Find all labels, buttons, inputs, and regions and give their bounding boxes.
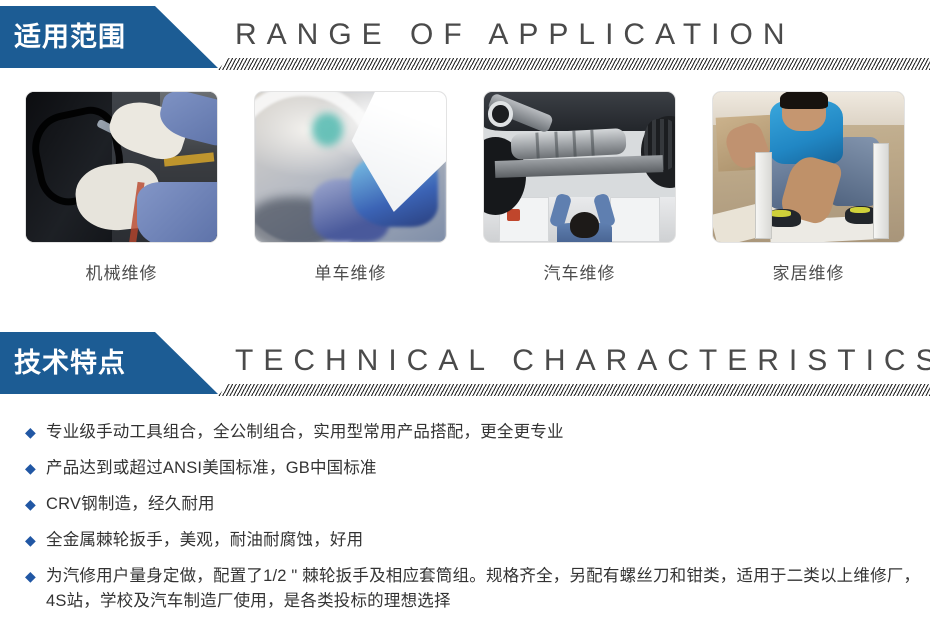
thumbnail-frame-car [483, 91, 676, 243]
diamond-bullet-icon: ◆ [22, 492, 46, 517]
feature-text: 专业级手动工具组合，全公制组合，实用型常用产品搭配，更全更专业 [46, 420, 922, 445]
thumbnail-caption-bicycle: 单车维修 [254, 259, 447, 284]
hatch-divider-application [218, 58, 930, 70]
application-thumbnail-row: 机械维修 单车维修 [25, 91, 905, 284]
feature-text: 产品达到或超过ANSI美国标准，GB中国标准 [46, 456, 922, 481]
banner-application: 适用范围 [0, 6, 218, 68]
diamond-bullet-icon: ◆ [22, 420, 46, 445]
thumbnail-caption-mechanical: 机械维修 [25, 259, 218, 284]
hatch-divider-technical [218, 384, 930, 396]
thumbnail-frame-home [712, 91, 905, 243]
thumbnail-card-mechanical[interactable]: 机械维修 [25, 91, 218, 284]
list-item: ◆ 产品达到或超过ANSI美国标准，GB中国标准 [22, 456, 922, 481]
banner-technical: 技术特点 [0, 332, 218, 394]
mechanical-repair-photo [26, 92, 217, 242]
thumbnail-card-bicycle[interactable]: 单车维修 [254, 91, 447, 284]
feature-text: 全金属棘轮扳手，美观，耐油耐腐蚀，好用 [46, 528, 922, 553]
thumbnail-frame-bicycle [254, 91, 447, 243]
banner-label-application: 适用范围 [0, 24, 126, 51]
feature-text: CRV钢制造，经久耐用 [46, 492, 922, 517]
english-title-technical: TECHNICAL CHARACTERISTICS [235, 338, 930, 384]
list-item: ◆ 为汽修用户量身定做，配置了1/2 " 棘轮扳手及相应套筒组。规格齐全，另配有… [22, 564, 922, 614]
car-repair-photo [484, 92, 675, 242]
thumbnail-caption-home: 家居维修 [712, 259, 905, 284]
list-item: ◆ 专业级手动工具组合，全公制组合，实用型常用产品搭配，更全更专业 [22, 420, 922, 445]
thumbnail-caption-car: 汽车维修 [483, 259, 676, 284]
home-repair-photo [713, 92, 904, 242]
list-item: ◆ 全金属棘轮扳手，美观，耐油耐腐蚀，好用 [22, 528, 922, 553]
banner-label-technical: 技术特点 [0, 350, 126, 377]
feature-text: 为汽修用户量身定做，配置了1/2 " 棘轮扳手及相应套筒组。规格齐全，另配有螺丝… [46, 564, 922, 614]
thumbnail-frame-mechanical [25, 91, 218, 243]
english-title-application: RANGE OF APPLICATION [235, 12, 795, 58]
thumbnail-card-car[interactable]: 汽车维修 [483, 91, 676, 284]
section-header-application: 适用范围 RANGE OF APPLICATION [0, 0, 930, 78]
thumbnail-card-home[interactable]: 家居维修 [712, 91, 905, 284]
diamond-bullet-icon: ◆ [22, 564, 46, 589]
section-header-technical: 技术特点 TECHNICAL CHARACTERISTICS [0, 326, 930, 404]
bicycle-repair-photo [255, 92, 446, 242]
list-item: ◆ CRV钢制造，经久耐用 [22, 492, 922, 517]
technical-feature-list: ◆ 专业级手动工具组合，全公制组合，实用型常用产品搭配，更全更专业 ◆ 产品达到… [22, 420, 922, 625]
diamond-bullet-icon: ◆ [22, 456, 46, 481]
diamond-bullet-icon: ◆ [22, 528, 46, 553]
